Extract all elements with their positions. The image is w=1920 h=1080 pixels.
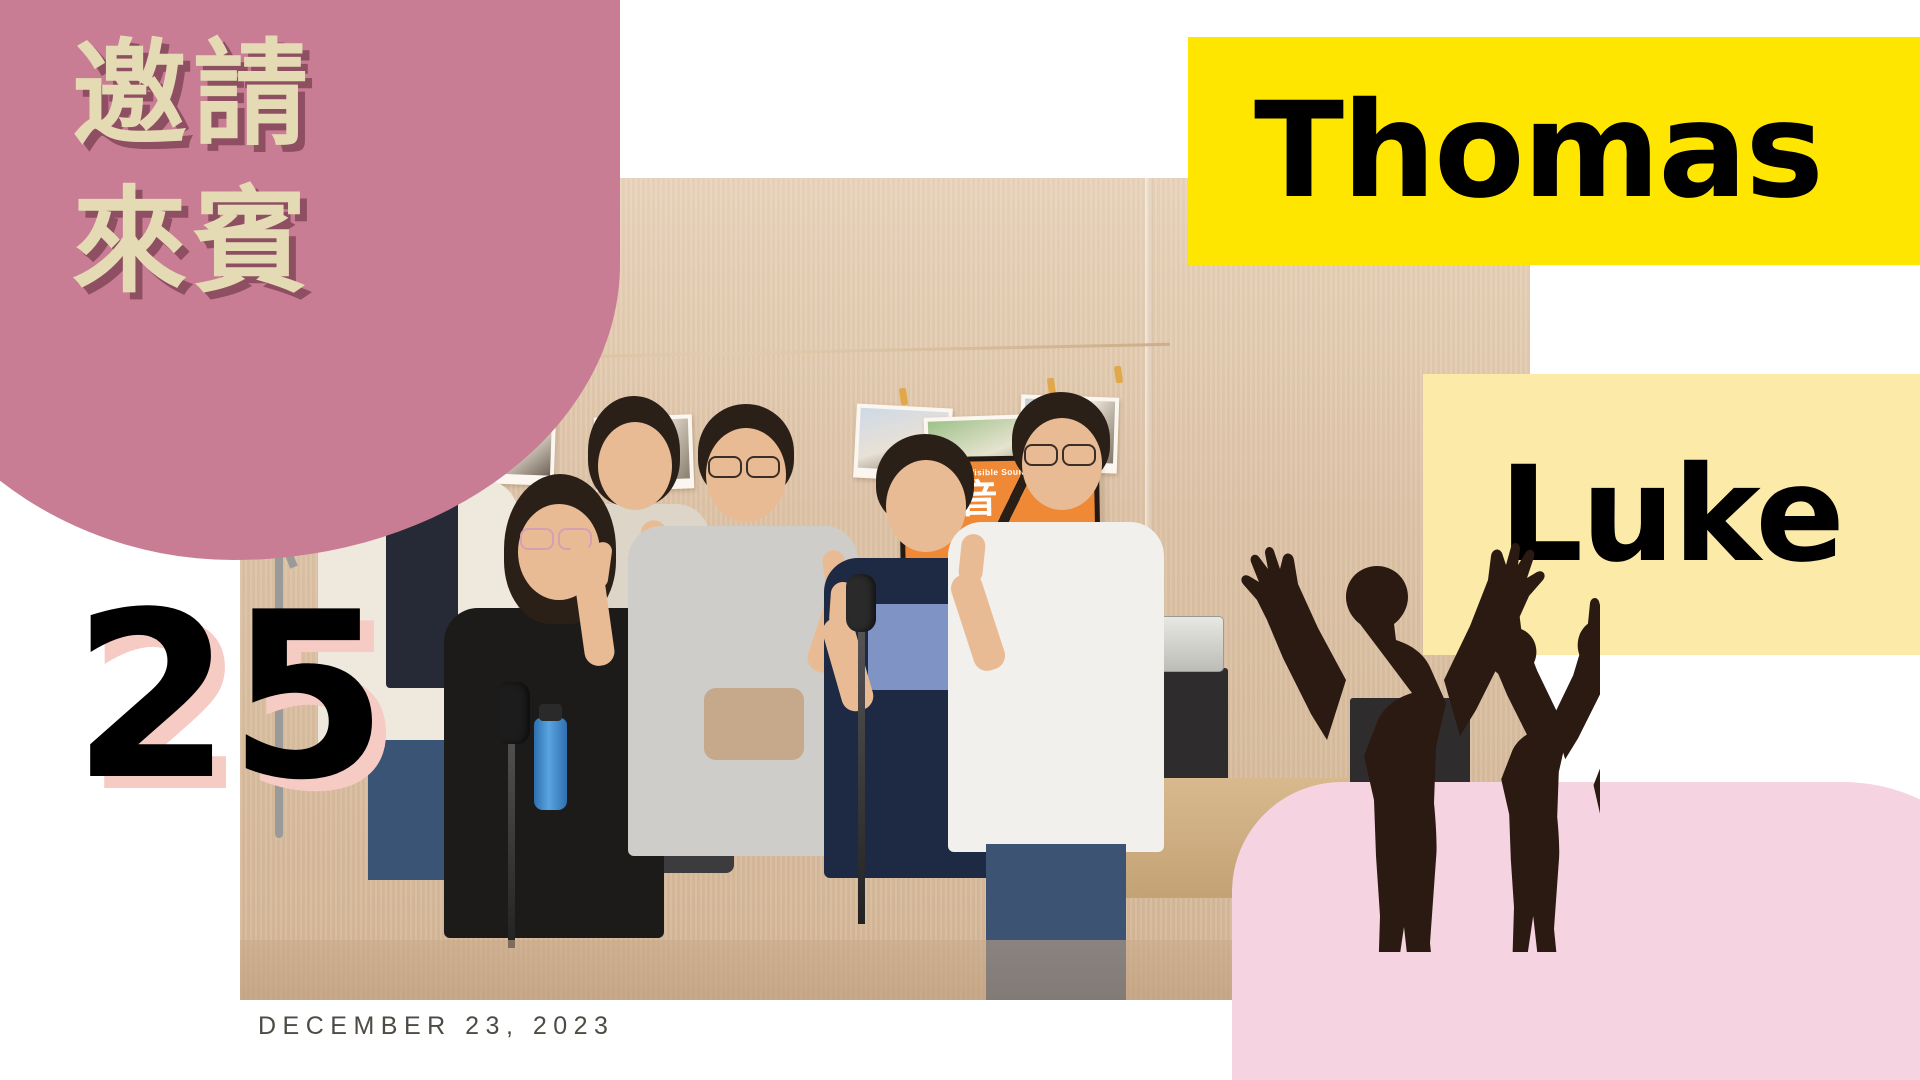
microphone: [496, 682, 530, 744]
person-4-glasses: [708, 456, 742, 478]
person-5-shirt-pattern: [868, 604, 960, 690]
event-date: DECEMBER 23, 2023: [258, 1012, 614, 1041]
person-3-glasses: [520, 528, 554, 550]
day-number: 25: [72, 604, 384, 793]
celebrating-people-silhouette: [1230, 532, 1600, 952]
microphone: [846, 574, 876, 632]
invitation-headline: 邀請 來賓: [72, 22, 492, 316]
person-4-glasses: [746, 456, 780, 478]
invitation-poster: —Visible Sound— 聲音 實驗室: [0, 0, 1920, 1080]
day-number-block: 25 25: [72, 604, 384, 793]
person-2-head: [598, 422, 672, 510]
headline-line-1: 邀請: [72, 22, 492, 169]
guest-name-box-thomas: Thomas: [1188, 37, 1920, 265]
mic-stand: [508, 718, 515, 948]
guest-name-thomas: Thomas: [1254, 85, 1822, 217]
person-6-glasses: [1062, 444, 1096, 466]
mic-stand: [858, 624, 865, 924]
water-bottle: [534, 718, 567, 810]
person-4-shoulder-bag: [704, 688, 804, 760]
bottle-cap: [539, 704, 562, 721]
headline-line-2: 來賓: [72, 169, 492, 316]
person-6-glasses: [1024, 444, 1058, 466]
